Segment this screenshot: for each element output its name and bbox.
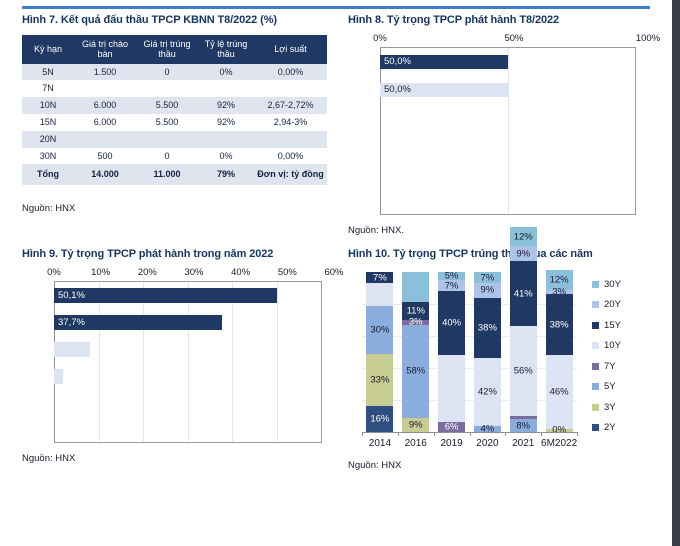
x-tick-label: 60% bbox=[324, 267, 343, 278]
figure-8-panel: Hình 8. Tỷ trọng TPCP phát hành T8/2022 … bbox=[348, 14, 648, 236]
segment-value-label: 12% bbox=[550, 275, 569, 285]
header-rule bbox=[22, 6, 650, 9]
figure-8-plot-area: 50,0%50,0% bbox=[380, 47, 636, 215]
segment-value-label: 9% bbox=[516, 249, 530, 259]
segment-15Y: 7% bbox=[366, 272, 393, 283]
legend-swatch-icon bbox=[592, 342, 599, 349]
bar-value-label: 50,1% bbox=[58, 290, 85, 301]
legend-item-5Y[interactable]: 5Y bbox=[592, 377, 648, 398]
cell-offered: 1.500 bbox=[74, 64, 136, 81]
figure-10-legend: 30Y20Y15Y10Y7Y5Y3Y2Y bbox=[592, 274, 648, 438]
legend-swatch-icon bbox=[592, 383, 599, 390]
legend-label: 15Y bbox=[604, 320, 621, 331]
segment-20Y: 9% bbox=[474, 283, 501, 297]
legend-item-30Y[interactable]: 30Y bbox=[592, 274, 648, 295]
x-tick-mark bbox=[398, 432, 399, 436]
segment-10Y: 46% bbox=[546, 355, 573, 429]
segment-3Y: 33% bbox=[366, 354, 393, 407]
x-tick-mark bbox=[434, 432, 435, 436]
segment-value-label: 40% bbox=[442, 318, 461, 328]
cell-term: 7N bbox=[22, 80, 74, 97]
cell-yield bbox=[254, 80, 327, 97]
x-tick-label: 50% bbox=[278, 267, 297, 278]
cell-rate: 92% bbox=[198, 114, 254, 131]
page-right-edge-gap bbox=[669, 0, 672, 546]
cell-offered bbox=[74, 131, 136, 148]
y-axis-line bbox=[54, 282, 55, 442]
figure-9-plot-wrap: 10Y15Y30Y20Y5Y7Y 50,1%37,7% bbox=[54, 281, 334, 443]
segment-30Y: 7% bbox=[474, 272, 501, 283]
stacked-column-2021: 12%9%41%56%8% bbox=[510, 227, 537, 432]
auction-results-table: Kỳ hạn Giá trị chào bán Giá trị trúng th… bbox=[22, 35, 327, 185]
segment-10Y: 42% bbox=[474, 358, 501, 425]
x-tick-label: 30% bbox=[184, 267, 203, 278]
segment-30Y: 5% bbox=[438, 272, 465, 280]
table-row: 20N bbox=[22, 131, 327, 148]
table-row: 10N 6.000 5.500 92% 2,67-2,72% bbox=[22, 97, 327, 114]
segment-7Y: 6% bbox=[438, 422, 465, 432]
segment-10Y bbox=[438, 355, 465, 422]
figure-10-panel: Hình 10. Tỷ trọng TPCP trúng thầu qua cá… bbox=[348, 248, 648, 471]
segment-value-label: 9% bbox=[481, 286, 495, 296]
segment-10Y bbox=[366, 283, 393, 305]
x-tick-label: 40% bbox=[231, 267, 250, 278]
x-tick-label: 2019 bbox=[440, 438, 462, 449]
bar-value-label: 50,0% bbox=[384, 56, 411, 67]
x-tick-label: 2014 bbox=[369, 438, 391, 449]
table-row: 30N 500 0 0% 0,00% bbox=[22, 148, 327, 165]
figure-9-plot-area: 50,1%37,7% bbox=[54, 281, 322, 443]
segment-value-label: 11% bbox=[407, 306, 425, 316]
cell-total-label: Tổng bbox=[22, 164, 74, 184]
table-header-row: Kỳ hạn Giá trị chào bán Giá trị trúng th… bbox=[22, 35, 327, 64]
segment-value-label: 7% bbox=[481, 273, 495, 283]
legend-swatch-icon bbox=[592, 281, 599, 288]
segment-value-label: 46% bbox=[550, 387, 569, 397]
cell-won bbox=[136, 80, 198, 97]
bar-value-label: 50,0% bbox=[384, 84, 411, 95]
legend-label: 2Y bbox=[604, 422, 616, 433]
segment-value-label: 9% bbox=[409, 420, 423, 430]
figure-10-plot-area: 7%30%33%16%11%3%58%9%5%7%40%6%7%9%38%42%… bbox=[362, 272, 577, 432]
figure-9-x-axis: 0%10%20%30%40%50%60% bbox=[54, 267, 334, 281]
gridline bbox=[143, 282, 144, 442]
cell-rate: 0% bbox=[198, 148, 254, 165]
legend-swatch-icon bbox=[592, 404, 599, 411]
figure-9-title: Hình 9. Tỷ trọng TPCP phát hành trong nă… bbox=[22, 248, 334, 260]
cell-rate bbox=[198, 80, 254, 97]
x-tick-label: 10% bbox=[91, 267, 110, 278]
x-tick-mark bbox=[505, 432, 506, 436]
cell-won: 5.500 bbox=[136, 114, 198, 131]
figure-9-chart: 0%10%20%30%40%50%60% 10Y15Y30Y20Y5Y7Y 50… bbox=[22, 267, 334, 443]
legend-label: 30Y bbox=[604, 279, 621, 290]
cell-rate: 0% bbox=[198, 64, 254, 81]
legend-label: 5Y bbox=[604, 381, 616, 392]
bar-20Y bbox=[54, 369, 63, 383]
x-tick-mark bbox=[577, 432, 578, 436]
x-tick-label: 6M2022 bbox=[541, 438, 577, 449]
x-tick-mark bbox=[470, 432, 471, 436]
stacked-column-6M2022: 12%3%38%46%0% bbox=[546, 270, 573, 432]
segment-15Y: 40% bbox=[438, 291, 465, 355]
legend-label: 3Y bbox=[604, 402, 616, 413]
bar-10Y bbox=[54, 288, 277, 302]
segment-15Y: 41% bbox=[510, 261, 537, 327]
figure-10-chart: 7%30%33%16%11%3%58%9%5%7%40%6%7%9%38%42%… bbox=[348, 268, 648, 468]
table-total-row: Tổng 14.000 11.000 79% Đơn vị: tỷ đồng bbox=[22, 164, 327, 184]
cell-won bbox=[136, 131, 198, 148]
cell-rate bbox=[198, 131, 254, 148]
legend-label: 20Y bbox=[604, 299, 621, 310]
y-axis-line bbox=[380, 48, 381, 214]
col-header-rate: Tỷ lệ trúng thầu bbox=[198, 35, 254, 64]
segment-5Y: 58% bbox=[402, 325, 429, 418]
segment-20Y: 9% bbox=[510, 246, 537, 260]
legend-item-10Y[interactable]: 10Y bbox=[592, 336, 648, 357]
report-page: Hình 7. Kết quả đấu thầu TPCP KBNN T8/20… bbox=[0, 0, 680, 546]
figure-8-chart: 0%50%100% 10Y15Y5Y7Y20Y30Y 50,0%50,0% bbox=[348, 33, 648, 215]
cell-yield bbox=[254, 131, 327, 148]
gridline bbox=[508, 48, 509, 214]
x-tick-label: 0% bbox=[373, 33, 387, 44]
x-tick-label: 2016 bbox=[405, 438, 427, 449]
x-tick-label: 2021 bbox=[512, 438, 534, 449]
cell-yield: 2,67-2,72% bbox=[254, 97, 327, 114]
legend-label: 10Y bbox=[604, 340, 621, 351]
segment-value-label: 41% bbox=[514, 289, 533, 299]
gridline bbox=[277, 282, 278, 442]
cell-term: 15N bbox=[22, 114, 74, 131]
segment-2Y: 16% bbox=[366, 406, 393, 432]
figure-9-panel: Hình 9. Tỷ trọng TPCP phát hành trong nă… bbox=[22, 248, 334, 464]
legend-item-15Y[interactable]: 15Y bbox=[592, 315, 648, 336]
table-row: 7N bbox=[22, 80, 327, 97]
cell-yield: 0,00% bbox=[254, 64, 327, 81]
segment-value-label: 30% bbox=[370, 325, 389, 335]
stacked-column-2020: 7%9%38%42%4% bbox=[474, 272, 501, 432]
col-header-term: Kỳ hạn bbox=[22, 35, 74, 64]
cell-term: 20N bbox=[22, 131, 74, 148]
cell-total-won: 11.000 bbox=[136, 164, 198, 184]
x-tick-mark bbox=[362, 432, 363, 436]
figure-7-panel: Hình 7. Kết quả đấu thầu TPCP KBNN T8/20… bbox=[22, 14, 334, 214]
x-tick-mark bbox=[541, 432, 542, 436]
segment-value-label: 38% bbox=[478, 323, 497, 333]
segment-3Y: 9% bbox=[402, 418, 429, 432]
gridline bbox=[188, 282, 189, 442]
figure-8-plot-wrap: 10Y15Y5Y7Y20Y30Y 50,0%50,0% bbox=[380, 47, 648, 215]
x-tick-label: 2020 bbox=[476, 438, 498, 449]
legend-item-3Y[interactable]: 3Y bbox=[592, 397, 648, 418]
segment-value-label: 33% bbox=[370, 375, 389, 385]
cell-won: 0 bbox=[136, 64, 198, 81]
table-row: 15N 6.000 5.500 92% 2,94-3% bbox=[22, 114, 327, 131]
legend-label: 7Y bbox=[604, 361, 616, 372]
legend-swatch-icon bbox=[592, 424, 599, 431]
figure-7-source: Nguồn: HNX bbox=[22, 203, 334, 214]
cell-yield: 0,00% bbox=[254, 148, 327, 165]
segment-value-label: 6% bbox=[445, 422, 459, 432]
figure-7-title: Hình 7. Kết quả đấu thầu TPCP KBNN T8/20… bbox=[22, 14, 334, 26]
x-tick-label: 100% bbox=[636, 33, 660, 44]
cell-offered bbox=[74, 80, 136, 97]
stacked-column-2014: 7%30%33%16% bbox=[366, 272, 393, 432]
segment-value-label: 12% bbox=[514, 232, 533, 242]
segment-value-label: 0% bbox=[552, 426, 566, 436]
figure-10-title: Hình 10. Tỷ trọng TPCP trúng thầu qua cá… bbox=[348, 248, 648, 260]
page-right-edge bbox=[672, 0, 680, 546]
cell-term: 30N bbox=[22, 148, 74, 165]
stacked-column-2016: 11%3%58%9% bbox=[402, 272, 429, 432]
cell-won: 5.500 bbox=[136, 97, 198, 114]
x-tick-label: 0% bbox=[47, 267, 61, 278]
col-header-yield: Lợi suất bbox=[254, 35, 327, 64]
figure-8-title: Hình 8. Tỷ trọng TPCP phát hành T8/2022 bbox=[348, 14, 648, 26]
segment-value-label: 8% bbox=[516, 421, 530, 431]
legend-item-20Y[interactable]: 20Y bbox=[592, 295, 648, 316]
figure-9-source: Nguồn: HNX bbox=[22, 453, 334, 464]
segment-5Y: 8% bbox=[510, 419, 537, 432]
cell-yield: 2,94-3% bbox=[254, 114, 327, 131]
legend-item-7Y[interactable]: 7Y bbox=[592, 356, 648, 377]
figure-8-x-axis: 0%50%100% bbox=[380, 33, 648, 47]
legend-swatch-icon bbox=[592, 363, 599, 370]
segment-5Y: 30% bbox=[366, 306, 393, 354]
x-tick-label: 50% bbox=[504, 33, 523, 44]
segment-value-label: 58% bbox=[406, 366, 425, 376]
segment-30Y bbox=[402, 272, 429, 302]
cell-offered: 6.000 bbox=[74, 114, 136, 131]
segment-value-label: 7% bbox=[373, 273, 387, 283]
gridline bbox=[232, 282, 233, 442]
cell-unit-note: Đơn vị: tỷ đồng bbox=[254, 164, 327, 184]
bar-value-label: 37,7% bbox=[58, 317, 85, 328]
table-row: 5N 1.500 0 0% 0,00% bbox=[22, 64, 327, 81]
segment-15Y: 38% bbox=[474, 298, 501, 359]
segment-value-label: 42% bbox=[478, 387, 497, 397]
cell-offered: 500 bbox=[74, 148, 136, 165]
gridline bbox=[99, 282, 100, 442]
legend-swatch-icon bbox=[592, 301, 599, 308]
segment-10Y: 56% bbox=[510, 326, 537, 416]
segment-value-label: 7% bbox=[445, 281, 459, 291]
figure-8-source: Nguồn: HNX. bbox=[348, 225, 648, 236]
segment-value-label: 38% bbox=[550, 320, 569, 330]
segment-value-label: 16% bbox=[370, 414, 389, 424]
cell-total-offered: 14.000 bbox=[74, 164, 136, 184]
segment-15Y: 38% bbox=[546, 294, 573, 355]
cell-total-rate: 79% bbox=[198, 164, 254, 184]
segment-20Y: 7% bbox=[438, 280, 465, 291]
legend-item-2Y[interactable]: 2Y bbox=[592, 418, 648, 439]
segment-value-label: 56% bbox=[514, 366, 533, 376]
cell-term: 5N bbox=[22, 64, 74, 81]
cell-won: 0 bbox=[136, 148, 198, 165]
segment-30Y: 12% bbox=[510, 227, 537, 246]
cell-term: 10N bbox=[22, 97, 74, 114]
x-tick-label: 20% bbox=[138, 267, 157, 278]
cell-rate: 92% bbox=[198, 97, 254, 114]
stacked-column-2019: 5%7%40%6% bbox=[438, 272, 465, 432]
cell-offered: 6.000 bbox=[74, 97, 136, 114]
col-header-won: Giá trị trúng thầu bbox=[136, 35, 198, 64]
col-header-offered: Giá trị chào bán bbox=[74, 35, 136, 64]
legend-swatch-icon bbox=[592, 322, 599, 329]
bar-30Y bbox=[54, 342, 90, 356]
